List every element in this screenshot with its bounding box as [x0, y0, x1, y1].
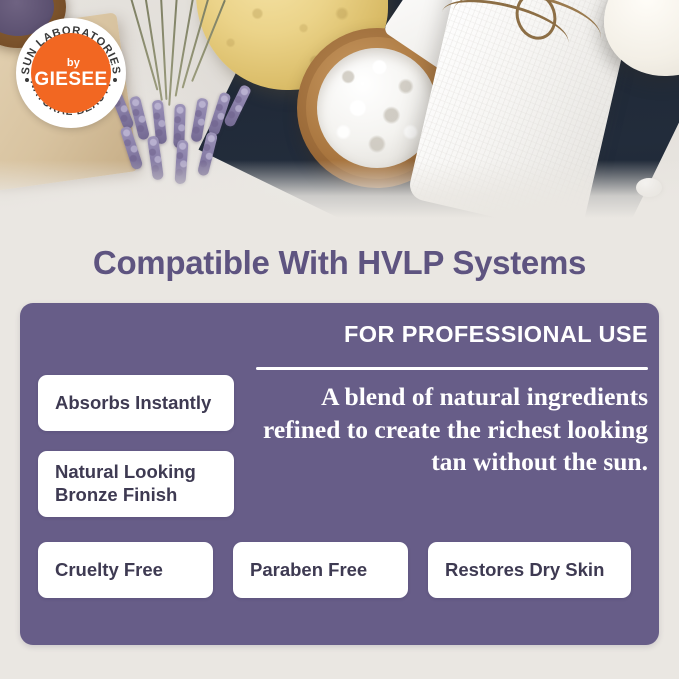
badge-brand-text: GIESEE: [34, 69, 107, 90]
brand-badge: SUN LABORATORIES NATURAL BEAUTY by GIESE…: [16, 18, 126, 128]
badge-by-label: by: [67, 58, 80, 69]
feature-pill-label: Cruelty Free: [55, 559, 163, 582]
badge-center-content: by GIESEE TM: [16, 18, 126, 128]
photo-bottom-fade: [0, 160, 679, 218]
feature-pill-paraben-free: Paraben Free: [233, 542, 408, 598]
feature-pill-label: Restores Dry Skin: [445, 559, 604, 582]
feature-pill-cruelty-free: Cruelty Free: [38, 542, 213, 598]
panel-description: A blend of natural ingredients refined t…: [250, 381, 648, 479]
feature-panel: FOR PROFESSIONAL USE A blend of natural …: [20, 303, 659, 645]
feature-pill-label: Paraben Free: [250, 559, 367, 582]
panel-divider: [256, 367, 648, 370]
feature-pill-restores-dry-skin: Restores Dry Skin: [428, 542, 631, 598]
product-infographic: SUN LABORATORIES NATURAL BEAUTY by GIESE…: [0, 0, 679, 679]
trademark-symbol: TM: [109, 64, 118, 70]
feature-pill-label: Absorbs Instantly: [55, 392, 211, 415]
feature-pill-absorbs-instantly: Absorbs Instantly: [38, 375, 234, 431]
page-title: Compatible With HVLP Systems: [0, 244, 679, 282]
feature-pill-label: Natural Looking Bronze Finish: [55, 461, 217, 506]
badge-brand-name: GIESEE TM: [34, 70, 107, 89]
panel-heading: FOR PROFESSIONAL USE: [256, 321, 648, 348]
feature-pill-natural-looking-bronze-finish: Natural Looking Bronze Finish: [38, 451, 234, 517]
